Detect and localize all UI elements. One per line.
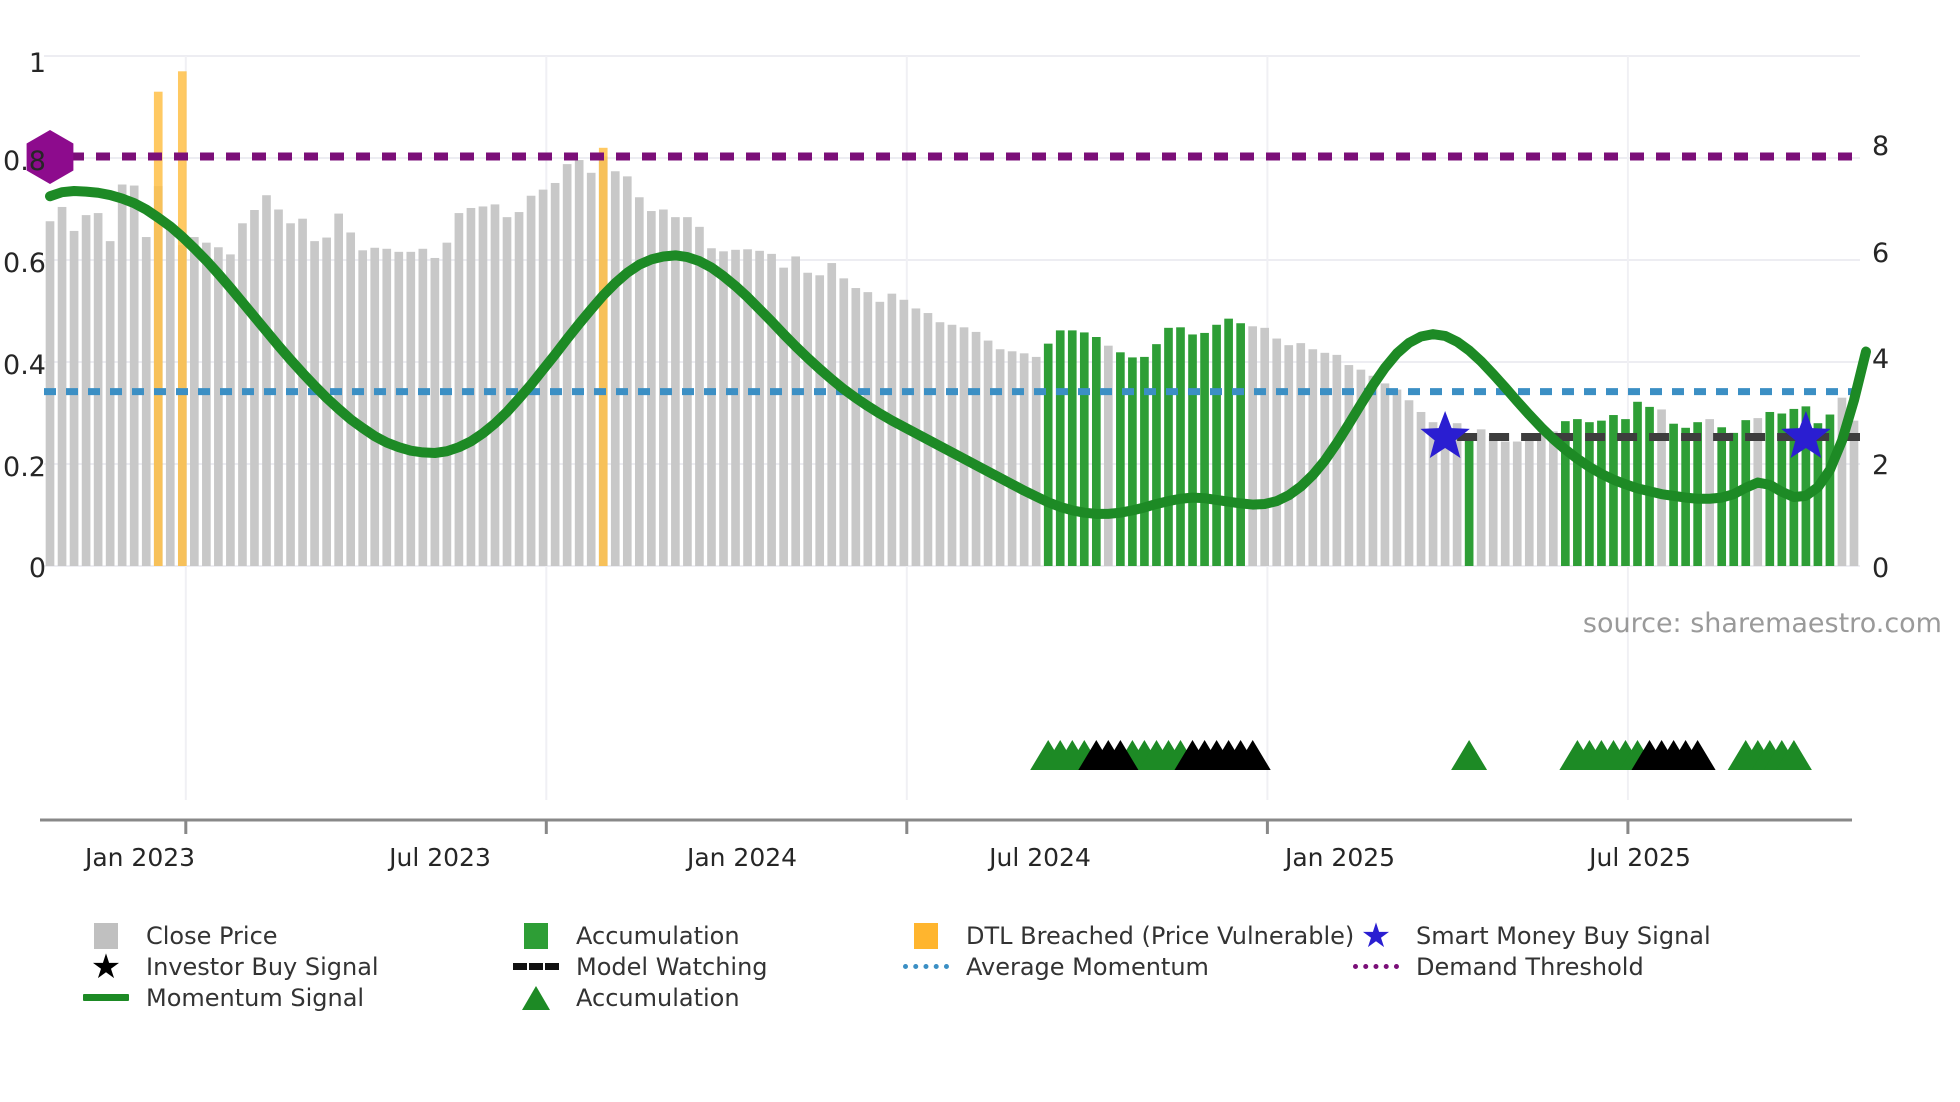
legend-item-smart-money-buy-signal[interactable]: ★Smart Money Buy Signal [1350,920,1780,951]
dtl-breach-bar [599,148,608,566]
bar [960,327,969,566]
y-right-tick-2: 2 [1872,450,1889,481]
y-right-tick-6: 6 [1872,238,1889,269]
x-tick-jan-2023: Jan 2023 [85,843,195,872]
bar [142,237,151,566]
y-right-tick-0: 0 [1872,553,1889,584]
bar [671,217,680,566]
y-left-tick-1: 1 [0,48,46,79]
bar [1200,333,1209,566]
bar [972,332,981,566]
bar [575,160,584,566]
legend-item-accumulation-marker[interactable]: Accumulation [510,982,900,1013]
bars-group [46,71,1859,566]
bar [1501,442,1510,566]
bar [1164,328,1173,566]
x-tick-jan-2024: Jan 2024 [687,843,797,872]
bar [118,185,127,566]
bar [563,164,572,566]
bar [443,243,452,566]
x-tick-jul-2023: Jul 2023 [389,843,491,872]
bar [551,183,560,566]
bar [1092,337,1101,566]
bar [298,219,307,566]
bar [1441,431,1450,566]
bar [1236,323,1245,566]
bar [382,249,391,566]
y-left-tick-06: 0.6 [0,248,46,279]
legend-label: DTL Breached (Price Vulnerable) [966,924,1354,948]
bar [1609,415,1618,566]
bar [1621,419,1630,566]
bar [888,294,897,566]
bar [1381,383,1390,566]
bar [791,256,800,566]
bar [623,176,632,566]
bar [1188,334,1197,566]
bar [1284,345,1293,566]
dotted-line-purple-icon [1350,954,1402,980]
legend-label: Accumulation [576,924,740,948]
bar [707,248,716,566]
bar [1080,332,1089,566]
bar [1248,326,1257,566]
legend-item-average-momentum[interactable]: Average Momentum [900,951,1350,982]
bar [1308,349,1317,566]
chart-legend: Close PriceAccumulationDTL Breached (Pri… [80,920,1930,1013]
dtl-breached-swatch-icon [900,923,952,949]
y-left-tick-0: 0 [0,553,46,584]
bar [1068,330,1077,566]
axis-group [40,820,1852,834]
dotted-line-blue-icon [900,954,952,980]
bar [1056,330,1065,566]
bar [250,210,259,566]
legend-item-accumulation-bar[interactable]: Accumulation [510,920,900,951]
bar [1116,352,1125,566]
bar [1260,328,1269,566]
bar [1345,365,1354,566]
legend-label: Close Price [146,924,278,948]
legend-label: Model Watching [576,955,768,979]
accumulation-bar-swatch-icon [510,923,562,949]
star-blue-icon: ★ [1350,923,1402,949]
bar [370,248,379,566]
bar [130,186,139,566]
legend-label: Investor Buy Signal [146,955,379,979]
bar [996,349,1005,566]
dtl-breach-bar [154,92,163,566]
legend-item-close-price[interactable]: Close Price [80,920,510,951]
bar [827,263,836,566]
bar [1152,344,1161,566]
bar [190,237,199,566]
bar [1020,353,1029,566]
legend-label: Average Momentum [966,955,1209,979]
bar [1417,412,1426,566]
bar [1224,319,1233,566]
x-tick-jan-2025: Jan 2025 [1285,843,1395,872]
bar [346,232,355,566]
bar [719,251,728,566]
legend-item-momentum-signal[interactable]: Momentum Signal [80,982,510,1013]
bar [587,173,596,566]
bar [659,210,668,566]
bar [1296,343,1305,566]
legend-label: Accumulation [576,986,740,1010]
bar [262,195,271,566]
dashed-line-icon [510,954,562,980]
bar [755,251,764,566]
bar [226,254,235,566]
y-right-tick-4: 4 [1872,344,1889,375]
bar [1465,433,1474,566]
bar [491,204,500,566]
y-left-tick-08: 0.8 [0,146,46,177]
bar [767,254,776,566]
bar [106,241,115,566]
bar [1705,419,1714,566]
bar [695,227,704,566]
bar [431,258,440,566]
legend-item-dtl-breached[interactable]: DTL Breached (Price Vulnerable) [900,920,1350,951]
legend-item-demand-threshold[interactable]: Demand Threshold [1350,951,1780,982]
bar [1513,442,1522,566]
bar [394,252,403,566]
bar [863,292,872,566]
bar [1549,431,1558,566]
bar [1850,421,1859,566]
y-right-tick-8: 8 [1872,131,1889,162]
y-left-tick-02: 0.2 [0,452,46,483]
bar [1212,325,1221,566]
x-tick-jul-2025: Jul 2025 [1589,843,1691,872]
bar [1573,419,1582,566]
bar [479,206,488,566]
bar [779,268,788,566]
x-tick-jul-2024: Jul 2024 [989,843,1091,872]
bar [1333,355,1342,566]
y-left-tick-04: 0.4 [0,350,46,381]
bar [635,197,644,566]
legend-label: Demand Threshold [1416,955,1644,979]
bar [1537,433,1546,566]
bar [455,213,464,566]
momentum-line-icon [80,985,132,1011]
legend-label: Smart Money Buy Signal [1416,924,1711,948]
bar [1597,421,1606,566]
bar [876,302,885,566]
dtl-breach-bar [178,71,187,566]
triangle-green-icon [510,985,562,1011]
bar [1044,344,1053,566]
bar [1489,436,1498,566]
close-price-swatch-icon [80,923,132,949]
bar [1272,339,1281,566]
bar [1104,346,1113,566]
bar [1525,435,1534,566]
bar [1585,422,1594,566]
legend-item-model-watching[interactable]: Model Watching [510,951,900,982]
bar [1405,400,1414,566]
star-black-icon: ★ [80,954,132,980]
bar [467,208,476,566]
bar [310,241,319,566]
bar [202,243,211,566]
bar [406,252,415,566]
bar [611,171,620,566]
bar [839,278,848,566]
bar [358,250,367,566]
bar [1393,390,1402,566]
accumulation-triangle-marker [1451,740,1487,770]
bar [166,227,175,566]
bar [1008,351,1017,566]
momentum-chart: 1 0.8 0.6 0.4 0.2 0 8 6 4 2 0 Jan 2023 J… [0,0,1960,1102]
bar [851,288,860,566]
bar [58,207,67,566]
bar [815,275,824,566]
bar [214,247,223,566]
bar [731,250,740,566]
bar [1176,327,1185,566]
bar [1657,409,1666,566]
legend-label: Momentum Signal [146,986,364,1010]
bar [1477,429,1486,566]
bar [803,273,812,566]
legend-item-investor-buy-signal[interactable]: ★Investor Buy Signal [80,951,510,982]
bar [70,231,79,566]
bar [419,249,428,566]
bar [1369,376,1378,566]
bar [274,210,283,566]
bar [984,341,993,566]
source-attribution: source: sharemaestro.com [1583,608,1942,639]
